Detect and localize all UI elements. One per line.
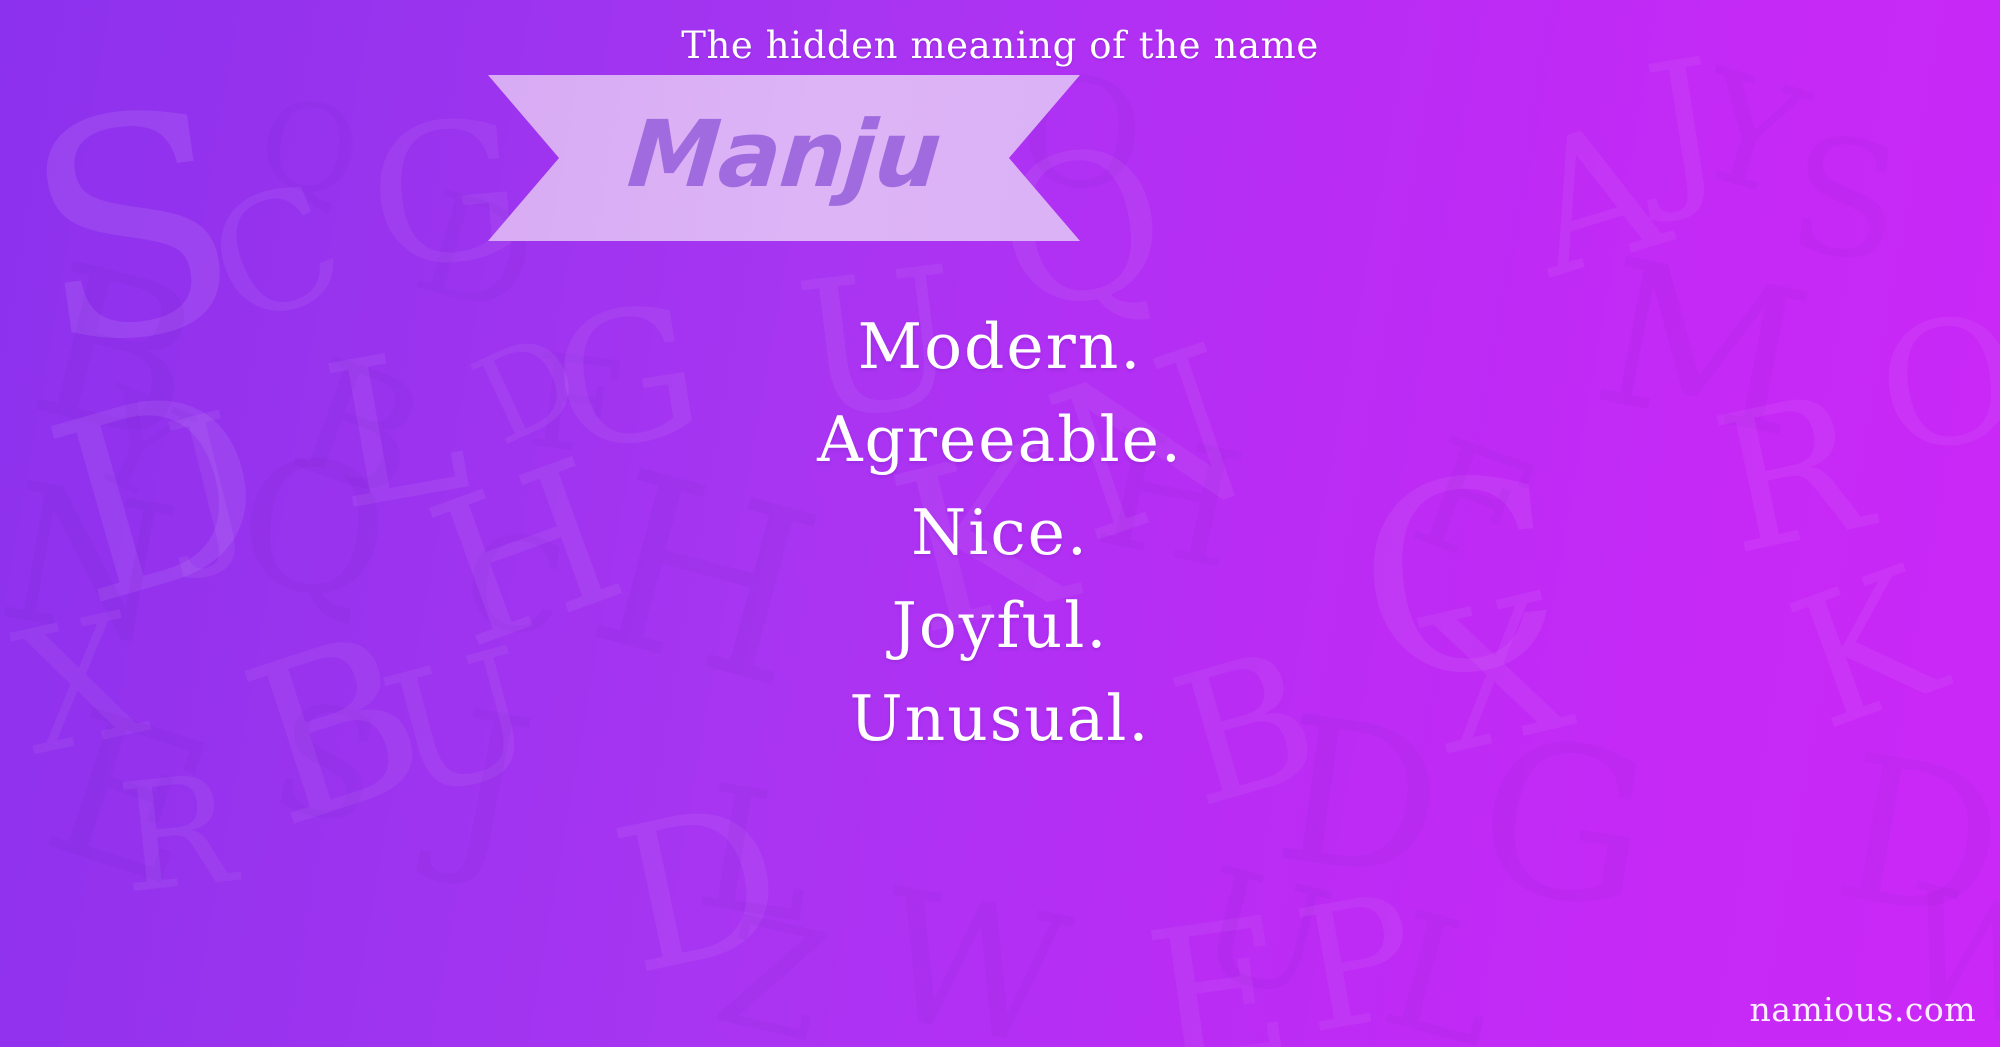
background-letter: E [1137, 891, 1301, 1047]
background-letter: A [1507, 95, 1684, 305]
background-letter: R [112, 755, 240, 916]
background-letter: D [601, 776, 799, 1005]
background-letter: Q [251, 83, 367, 217]
meaning-word: Joyful. [0, 579, 2000, 672]
name-text: Manju [481, 75, 1088, 241]
meaning-word: Unusual. [0, 672, 2000, 765]
meaning-word: Modern. [0, 300, 2000, 393]
background-letter: L [687, 762, 825, 948]
meaning-word: Agreeable. [0, 393, 2000, 486]
background-letter: Y [1681, 49, 1818, 220]
background-letter: S [1781, 114, 1909, 286]
site-watermark: namious.com [1750, 990, 1976, 1029]
background-letter: U [1184, 847, 1343, 1023]
background-letter: Z [704, 895, 839, 1047]
page-title: The hidden meaning of the name [0, 24, 2000, 67]
background-letter: L [1371, 889, 1515, 1047]
name-ribbon-banner: Manju [488, 75, 1080, 241]
meaning-word: Nice. [0, 486, 2000, 579]
background-letter: W [866, 865, 1079, 1047]
background-letter: P [1286, 871, 1428, 1047]
name-meaning-card: SBDNXERYCQJQBSLBGDHCUJDFGHDLQZUVKWQONHEU… [0, 0, 2000, 1047]
meaning-list: Modern.Agreeable.Nice.Joyful.Unusual. [0, 300, 2000, 765]
